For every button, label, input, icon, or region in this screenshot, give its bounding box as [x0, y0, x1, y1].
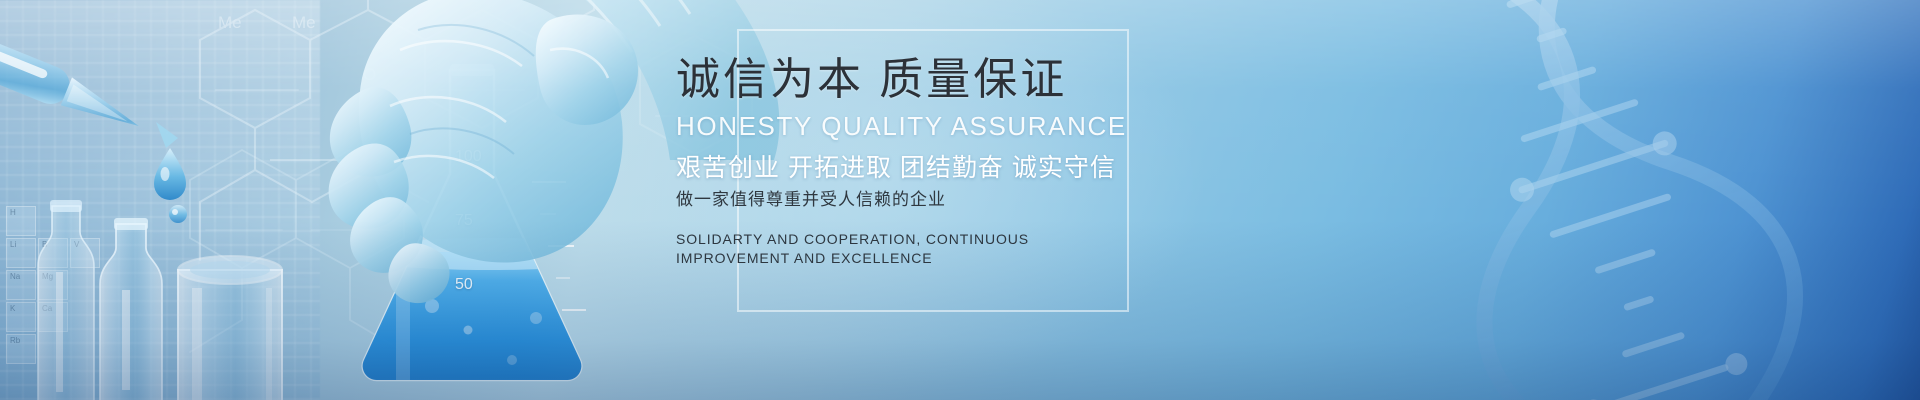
banner-copy: 诚信为本 质量保证 HONESTY QUALITY ASSURANCE 艰苦创业… [676, 58, 1316, 268]
slogan-chinese: 艰苦创业 开拓进取 团结勤奋 诚实守信 [676, 156, 1316, 181]
tagline-chinese: 做一家值得尊重并受人信赖的企业 [676, 191, 1316, 208]
hero-banner: HLiBNaMgKCaRbV [0, 0, 1920, 400]
headline-english: HONESTY QUALITY ASSURANCE [676, 113, 1316, 139]
headline-chinese: 诚信为本 质量保证 [676, 58, 1316, 102]
tagline-english: SOLIDARTY AND COOPERATION, CONTINUOUS IM… [676, 230, 1076, 268]
